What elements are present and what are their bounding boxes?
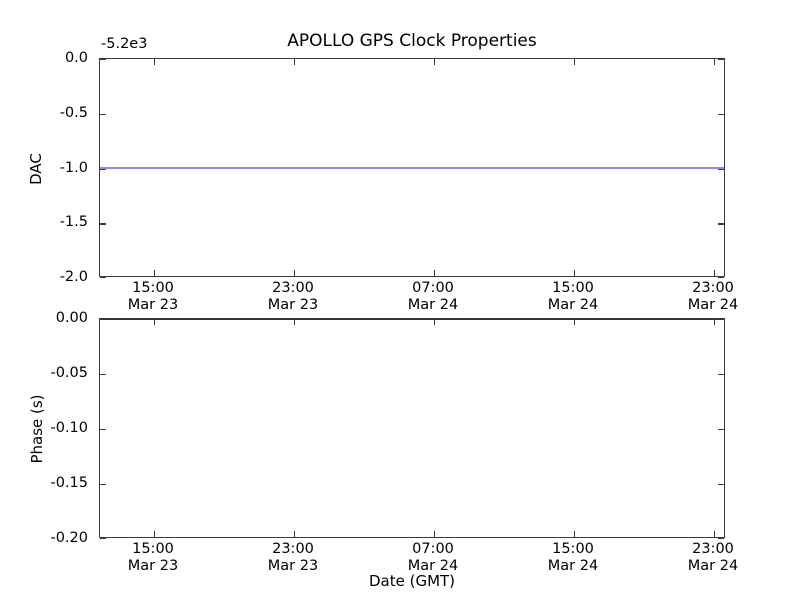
phase-ytick-label: -0.15 [0, 475, 88, 491]
dac-xtick-date: Mar 24 [548, 297, 598, 314]
dac-plot-inner [100, 59, 724, 276]
dac-xtick [574, 59, 575, 65]
dac-ytick-label: -2.0 [0, 269, 88, 285]
phase-xtick-time: 23:00 [272, 541, 314, 557]
dac-xtick-date: Mar 24 [688, 297, 738, 314]
phase-xtick [434, 319, 435, 325]
dac-ytick [718, 169, 724, 170]
dac-xtick-time: 07:00 [412, 280, 454, 296]
dac-xtick-date: Mar 23 [268, 297, 318, 314]
dac-xtick [574, 270, 575, 276]
dac-ytick [100, 277, 106, 278]
phase-data-line [100, 319, 724, 320]
dac-xtick [154, 59, 155, 65]
dac-ytick-label: -1.0 [0, 160, 88, 176]
dac-data-line [100, 167, 724, 169]
dac-ytick-label: -0.5 [0, 105, 88, 121]
dac-ytick [100, 114, 106, 115]
dac-plot-area [99, 58, 725, 277]
phase-xtick [714, 531, 715, 537]
dac-ytick-label: -1.5 [0, 214, 88, 230]
dac-xtick [294, 59, 295, 65]
phase-xtick [574, 319, 575, 325]
phase-xtick-time: 15:00 [132, 541, 174, 557]
phase-xtick [574, 531, 575, 537]
phase-ytick [718, 319, 724, 320]
dac-ytick [718, 59, 724, 60]
phase-xtick-label: 15:00 Mar 23 [128, 541, 178, 575]
phase-ytick-label: -0.20 [0, 530, 88, 546]
phase-xtick-label: 23:00 Mar 24 [688, 541, 738, 575]
phase-plot-area [99, 318, 725, 538]
dac-xtick-label: 23:00 Mar 24 [688, 280, 738, 314]
dac-xtick [434, 270, 435, 276]
phase-ytick [100, 484, 106, 485]
dac-xtick-date: Mar 24 [408, 297, 458, 314]
phase-ytick [100, 319, 106, 320]
dac-ytick [100, 169, 106, 170]
phase-xtick [434, 531, 435, 537]
dac-xtick [294, 270, 295, 276]
dac-xtick-time: 15:00 [552, 280, 594, 296]
dac-ytick [100, 59, 106, 60]
dac-xtick-time: 23:00 [692, 280, 734, 296]
dac-xtick-label: 15:00 Mar 24 [548, 280, 598, 314]
chart-title: APOLLO GPS Clock Properties [99, 31, 725, 51]
phase-plot-inner [100, 319, 724, 537]
phase-ytick [718, 484, 724, 485]
phase-xtick-time: 07:00 [412, 541, 454, 557]
phase-xtick [154, 319, 155, 325]
phase-ytick-label: -0.10 [0, 420, 88, 436]
phase-xtick [294, 531, 295, 537]
dac-xtick-time: 23:00 [272, 280, 314, 296]
dac-xtick [714, 59, 715, 65]
dac-xtick-time: 15:00 [132, 280, 174, 296]
phase-xtick [714, 319, 715, 325]
phase-xtick-time: 23:00 [692, 541, 734, 557]
dac-xtick-label: 07:00 Mar 24 [408, 280, 458, 314]
dac-ytick [718, 223, 724, 224]
phase-ytick [100, 429, 106, 430]
dac-xtick [154, 270, 155, 276]
phase-ytick [718, 374, 724, 375]
dac-xtick [434, 59, 435, 65]
phase-xtick-time: 15:00 [552, 541, 594, 557]
dac-y-offset-label: -5.2e3 [101, 36, 147, 52]
phase-xtick-label: 15:00 Mar 24 [548, 541, 598, 575]
dac-xtick-label: 15:00 Mar 23 [128, 280, 178, 314]
phase-xtick [294, 319, 295, 325]
dac-ytick [100, 223, 106, 224]
x-axis-title: Date (GMT) [99, 572, 725, 590]
dac-ytick [718, 277, 724, 278]
phase-ytick [100, 374, 106, 375]
dac-xtick-label: 23:00 Mar 23 [268, 280, 318, 314]
phase-ytick-label: 0.00 [0, 310, 88, 326]
phase-xtick-label: 07:00 Mar 24 [408, 541, 458, 575]
phase-xtick [154, 531, 155, 537]
dac-ytick [718, 114, 724, 115]
phase-ytick [718, 538, 724, 539]
phase-ytick [718, 429, 724, 430]
phase-xtick-label: 23:00 Mar 23 [268, 541, 318, 575]
dac-ytick-label: 0.0 [0, 50, 88, 66]
dac-xtick [714, 270, 715, 276]
dac-xtick-date: Mar 23 [128, 297, 178, 314]
phase-ytick-label: -0.05 [0, 365, 88, 381]
phase-ytick [100, 538, 106, 539]
figure-canvas: APOLLO GPS Clock Properties -5.2e3 DAC 0… [0, 0, 800, 600]
